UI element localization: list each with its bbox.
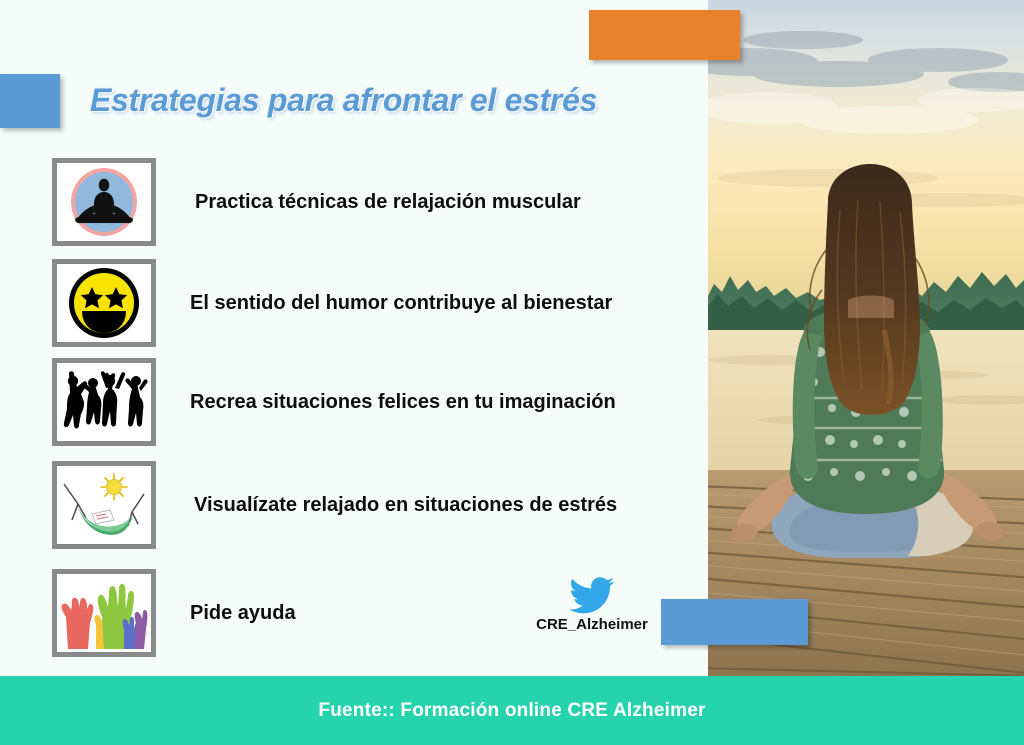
list-item: Visualízate relajado en situaciones de e…	[52, 461, 617, 549]
slide-canvas: Estrategias para afrontar el estrés Prac…	[0, 0, 1024, 745]
list-item: Practica técnicas de relajación muscular	[52, 158, 581, 246]
twitter-bird-icon[interactable]	[569, 576, 615, 614]
list-item-label: Visualízate relajado en situaciones de e…	[194, 494, 617, 517]
meditating-woman-photo	[708, 0, 1024, 676]
twitter-handle-label: CRE_Alzheimer	[527, 616, 657, 633]
footer-source-label: Fuente:: Formación online CRE Alzheimer	[318, 700, 705, 722]
list-item-label: Recrea situaciones felices en tu imagina…	[190, 391, 616, 414]
blue-accent-block-bottom-right	[661, 599, 808, 645]
list-item-label: Pide ayuda	[190, 602, 296, 625]
list-item-label: El sentido del humor contribuye al biene…	[190, 292, 612, 315]
blue-accent-block-top-left	[0, 74, 60, 128]
orange-accent-block	[589, 10, 740, 60]
footer-bar: Fuente:: Formación online CRE Alzheimer	[0, 676, 1024, 745]
list-item: Pide ayuda	[52, 569, 296, 657]
list-item: Recrea situaciones felices en tu imagina…	[52, 358, 616, 446]
list-item: El sentido del humor contribuye al biene…	[52, 259, 612, 347]
meditation-lotus-icon	[52, 158, 156, 246]
hammock-sun-icon	[52, 461, 156, 549]
smiley-star-eyes-icon	[52, 259, 156, 347]
social-handle-block[interactable]: CRE_Alzheimer	[527, 576, 657, 633]
list-item-label: Practica técnicas de relajación muscular	[195, 191, 581, 214]
raised-hands-icon	[52, 569, 156, 657]
celebrating-people-silhouette-icon	[52, 358, 156, 446]
page-title: Estrategias para afrontar el estrés	[90, 82, 597, 119]
